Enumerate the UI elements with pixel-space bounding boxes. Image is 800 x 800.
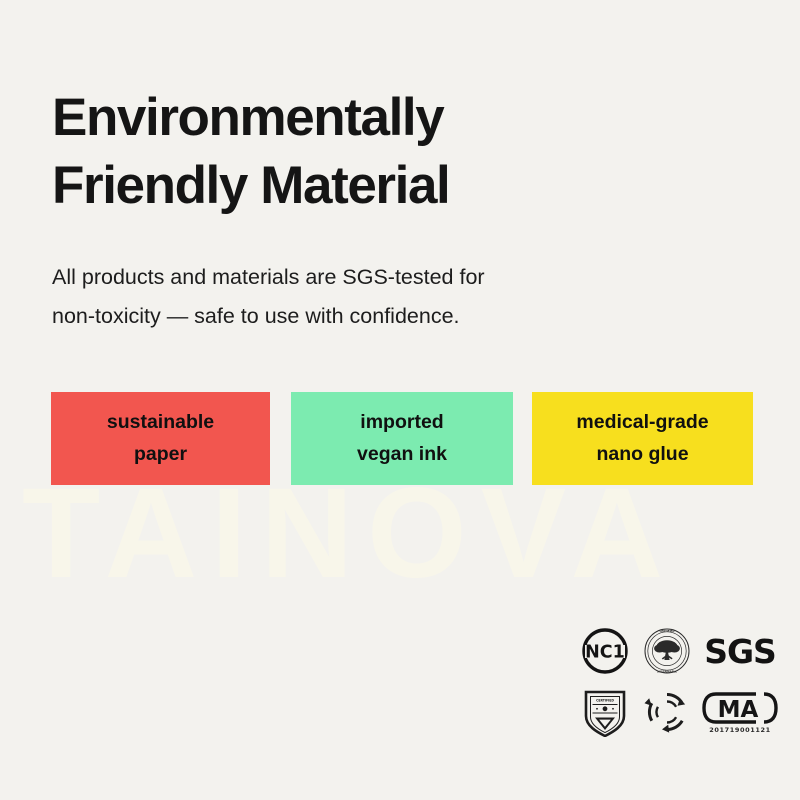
sgs-wordmark-icon: SGS	[704, 635, 776, 668]
certification-badge-shield: CERTIFIED	[574, 682, 636, 742]
chip-label-line-1: imported	[360, 407, 443, 439]
page-subtitle: All products and materials are SGS-teste…	[52, 258, 692, 336]
chip-label-line-2: paper	[134, 439, 187, 471]
shield-badge-icon: CERTIFIED	[582, 687, 628, 737]
svg-text:SUSTAINABLE: SUSTAINABLE	[657, 669, 677, 673]
page-title-line-1: Environmentally	[52, 88, 443, 147]
certification-badge-grid: NC1	[574, 620, 782, 742]
svg-text:CERTIFIED: CERTIFIED	[596, 699, 614, 703]
page-title-line-2: Friendly Material	[52, 152, 752, 221]
poster-canvas: TAINOVA Environmentally Friendly Materia…	[0, 0, 800, 800]
brand-watermark: TAINOVA	[22, 470, 800, 598]
page-subtitle-line-2: non-toxicity — safe to use with confiden…	[52, 297, 692, 336]
chip-label-line-2: nano glue	[596, 439, 688, 471]
svg-text:MA: MA	[718, 697, 759, 723]
material-chip-imported-vegan-ink: imported vegan ink	[291, 392, 513, 485]
page-title: Environmentally Friendly Material	[52, 84, 752, 222]
chip-label-line-1: medical-grade	[576, 407, 708, 439]
cma-certificate-number: 201719001121	[709, 726, 770, 734]
certification-badge-sgs: SGS	[698, 620, 782, 682]
svg-text:NC1: NC1	[585, 643, 625, 663]
cma-oval-icon: MA	[702, 691, 778, 725]
page-subtitle-line-1: All products and materials are SGS-teste…	[52, 265, 485, 289]
chip-label-line-1: sustainable	[107, 407, 214, 439]
tree-seal-icon: CERTIFIED SUSTAINABLE	[642, 626, 692, 676]
nc1-circle-icon: NC1	[580, 626, 630, 676]
certification-badge-forest-seal: CERTIFIED SUSTAINABLE	[636, 620, 698, 682]
certification-badge-recycling	[636, 682, 698, 742]
recycling-arrows-icon	[643, 688, 691, 736]
certification-badge-cma: MA 201719001121	[698, 682, 782, 742]
material-chip-medical-grade-nano-glue: medical-grade nano glue	[532, 392, 753, 485]
certification-badge-nc1: NC1	[574, 620, 636, 682]
svg-text:CERTIFIED: CERTIFIED	[660, 629, 676, 633]
chip-label-line-2: vegan ink	[357, 439, 447, 471]
material-chip-sustainable-paper: sustainable paper	[51, 392, 270, 485]
